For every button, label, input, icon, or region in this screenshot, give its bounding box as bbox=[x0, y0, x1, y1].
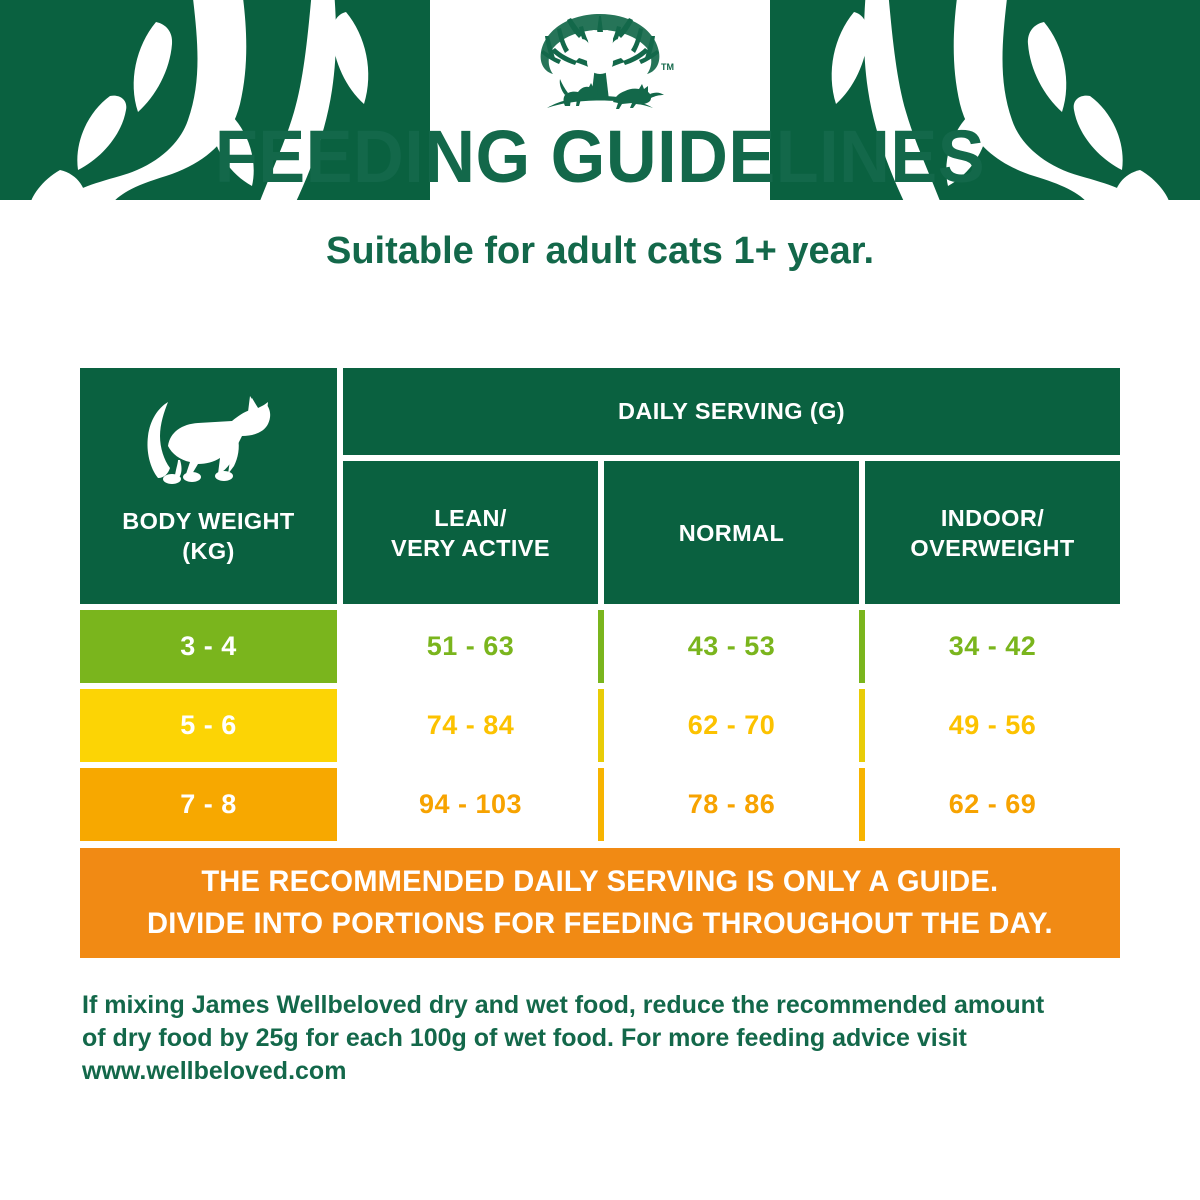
feeding-guidelines-page: TM FEEDING GUIDELINES Suitable for adult… bbox=[0, 0, 1200, 1200]
table-header-normal: NORMAL bbox=[604, 461, 859, 604]
table-row: 3 - 4 51 - 63 43 - 53 34 - 42 bbox=[80, 610, 1120, 683]
footer-note: If mixing James Wellbeloved dry and wet … bbox=[82, 989, 1116, 1088]
body-weight-line1: BODY WEIGHT bbox=[122, 506, 294, 536]
row1-weight: 5 - 6 bbox=[80, 689, 337, 762]
footer-line1: If mixing James Wellbeloved dry and wet … bbox=[82, 989, 1116, 1022]
row2-normal-value: 78 - 86 bbox=[604, 768, 859, 841]
col2-line2: OVERWEIGHT bbox=[910, 533, 1074, 563]
row1-normal-value: 62 - 70 bbox=[604, 689, 859, 762]
page-subtitle: Suitable for adult cats 1+ year. bbox=[0, 228, 1200, 274]
table-header-body-weight-label: BODY WEIGHT (KG) bbox=[122, 506, 294, 566]
tree-with-paw-cat-dog-logo-icon: TM bbox=[521, 14, 679, 118]
row2-weight: 7 - 8 bbox=[80, 768, 337, 841]
row2-indoor-value: 62 - 69 bbox=[865, 768, 1120, 841]
row0-weight: 3 - 4 bbox=[80, 610, 337, 683]
feeding-table: BODY WEIGHT (KG) DAILY SERVING (G) LEAN/… bbox=[80, 368, 1120, 845]
col0-line1: LEAN/ bbox=[391, 503, 550, 533]
table-subheader-row: LEAN/ VERY ACTIVE NORMAL INDOOR/ OVERWEI… bbox=[343, 461, 1120, 604]
row1-lean-value: 74 - 84 bbox=[343, 689, 598, 762]
advisory-banner: THE RECOMMENDED DAILY SERVING IS ONLY A … bbox=[80, 848, 1120, 958]
table-header-daily-serving: DAILY SERVING (G) bbox=[343, 368, 1120, 455]
row0-normal-value: 43 - 53 bbox=[604, 610, 859, 683]
advisory-banner-line1: THE RECOMMENDED DAILY SERVING IS ONLY A … bbox=[202, 861, 999, 903]
row0-lean-value: 51 - 63 bbox=[343, 610, 598, 683]
table-header-lean-very-active: LEAN/ VERY ACTIVE bbox=[343, 461, 598, 604]
table-row: 5 - 6 74 - 84 62 - 70 49 - 56 bbox=[80, 689, 1120, 762]
row2-lean-value: 94 - 103 bbox=[343, 768, 598, 841]
advisory-banner-line2: DIVIDE INTO PORTIONS FOR FEEDING THROUGH… bbox=[147, 903, 1053, 945]
col1-line1: NORMAL bbox=[679, 518, 785, 548]
body-weight-line2: (KG) bbox=[122, 536, 294, 566]
col0-line2: VERY ACTIVE bbox=[391, 533, 550, 563]
footer-line2: of dry food by 25g for each 100g of wet … bbox=[82, 1022, 1116, 1055]
row1-indoor-value: 49 - 56 bbox=[865, 689, 1120, 762]
row0-indoor-value: 34 - 42 bbox=[865, 610, 1120, 683]
svg-text:TM: TM bbox=[661, 62, 674, 72]
col2-line1: INDOOR/ bbox=[910, 503, 1074, 533]
footer-website: www.wellbeloved.com bbox=[82, 1055, 1116, 1088]
table-row: 7 - 8 94 - 103 78 - 86 62 - 69 bbox=[80, 768, 1120, 841]
cat-silhouette-icon bbox=[134, 382, 284, 494]
page-title: FEEDING GUIDELINES bbox=[30, 116, 1170, 198]
table-header-body-weight: BODY WEIGHT (KG) bbox=[80, 368, 337, 604]
table-header-indoor-overweight: INDOOR/ OVERWEIGHT bbox=[865, 461, 1120, 604]
